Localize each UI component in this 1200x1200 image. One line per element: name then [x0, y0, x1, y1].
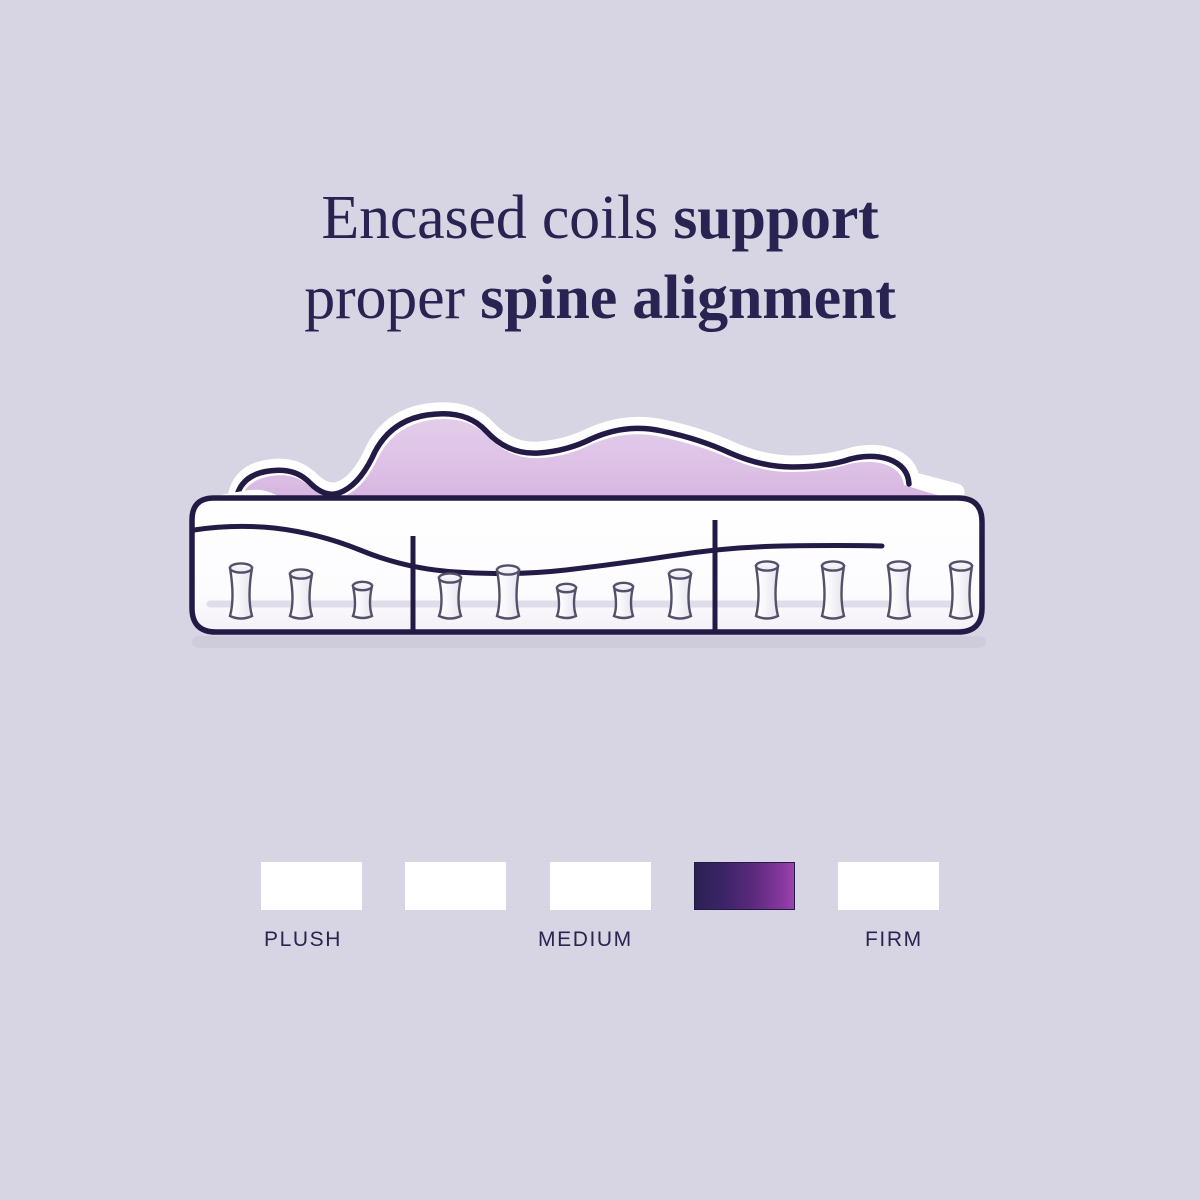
coil	[756, 561, 778, 618]
headline-line-1-bold: support	[673, 184, 878, 252]
firmness-scale: PLUSH MEDIUM FIRM	[0, 862, 1200, 982]
firmness-step-1[interactable]	[261, 862, 362, 910]
coil	[290, 569, 312, 618]
page-title: Encased coils support proper spine align…	[0, 178, 1200, 338]
firmness-scale-labels: PLUSH MEDIUM FIRM	[261, 928, 939, 958]
firmness-label-firm: FIRM	[865, 928, 923, 952]
coil	[822, 561, 844, 618]
infographic-canvas: Encased coils support proper spine align…	[0, 0, 1200, 1200]
coil	[888, 561, 910, 618]
coil	[669, 569, 691, 618]
headline-line-2-bold: spine alignment	[480, 264, 896, 332]
firmness-step-3[interactable]	[550, 862, 651, 910]
mattress-illustration	[150, 380, 1050, 660]
coil	[353, 582, 372, 618]
headline-line-2: proper spine alignment	[0, 258, 1200, 338]
firmness-step-5[interactable]	[838, 862, 939, 910]
headline-line-1: Encased coils support	[0, 178, 1200, 258]
coil	[439, 573, 461, 618]
coil	[230, 563, 252, 618]
firmness-label-medium: MEDIUM	[538, 928, 633, 952]
mattress-illustration-svg	[150, 380, 1050, 660]
mattress-shadow	[192, 636, 986, 648]
coil	[950, 561, 972, 618]
coil	[497, 565, 519, 618]
firmness-label-plush: PLUSH	[264, 928, 342, 952]
coil	[557, 584, 576, 618]
firmness-scale-steps	[261, 862, 939, 912]
headline-line-1-light: Encased coils	[321, 184, 673, 252]
coil	[614, 583, 633, 618]
headline-line-2-light: proper	[304, 264, 480, 332]
firmness-step-2[interactable]	[405, 862, 506, 910]
firmness-step-4-selected[interactable]	[694, 862, 795, 910]
